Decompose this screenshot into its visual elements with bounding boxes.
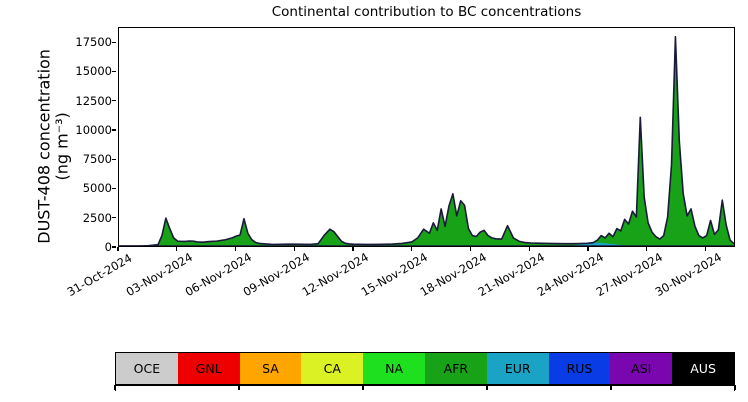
legend-item-label: EUR (505, 361, 531, 376)
y-tick-label: 17500 (52, 35, 112, 49)
legend-item-label: AFR (444, 361, 468, 376)
y-tick-mark (112, 71, 116, 72)
x-tick-label-text: 03-Nov-2024 (123, 250, 194, 299)
plot-area (118, 27, 735, 247)
x-tick-label-text: 15-Nov-2024 (358, 250, 429, 299)
y-tick-label: 0 (52, 240, 112, 254)
x-tick-mark (705, 247, 706, 251)
legend-axis-line (115, 385, 735, 386)
legend-item-asi[interactable]: ASI (610, 353, 672, 384)
page-title: Continental contribution to BC concentra… (118, 4, 735, 20)
legend-item-oce[interactable]: OCE (116, 353, 178, 384)
legend-item-label: SA (262, 361, 279, 376)
legend-item-na[interactable]: NA (363, 353, 425, 384)
legend-item-label: GNL (196, 361, 222, 376)
legend-item-eur[interactable]: EUR (487, 353, 549, 384)
legend-tick-mark (734, 385, 735, 390)
legend-item-sa[interactable]: SA (240, 353, 302, 384)
legend-item-label: ASI (631, 361, 651, 376)
legend-item-label: OCE (134, 361, 160, 376)
x-tick-mark (411, 247, 412, 251)
legend-item-rus[interactable]: RUS (549, 353, 611, 384)
y-tick-mark (112, 159, 116, 160)
x-tick-mark (352, 247, 353, 251)
x-tick-mark (117, 247, 118, 251)
x-tick-mark (235, 247, 236, 251)
x-tick-mark (294, 247, 295, 251)
y-tick-label: 15000 (52, 64, 112, 78)
legend-item-ca[interactable]: CA (301, 353, 363, 384)
legend-item-label: CA (324, 361, 341, 376)
y-axis-ticks: 025005000750010000125001500017500 (46, 0, 112, 402)
x-tick-label-text: 27-Nov-2024 (593, 250, 664, 299)
legend-tick-mark (486, 385, 487, 390)
continent-legend[interactable]: OCEGNLSACANAAFREURRUSASIAUS (115, 352, 735, 385)
legend-item-label: NA (385, 361, 403, 376)
y-tick-mark (112, 129, 116, 130)
legend-item-label: AUS (690, 361, 716, 376)
legend-tick-mark (610, 385, 611, 390)
legend-item-label: RUS (567, 361, 593, 376)
x-tick-mark (646, 247, 647, 251)
y-tick-label: 5000 (52, 181, 112, 195)
y-tick-label: 12500 (52, 94, 112, 108)
x-tick-label-text: 30-Nov-2024 (652, 250, 723, 299)
y-tick-mark (112, 100, 116, 101)
y-tick-label: 7500 (52, 152, 112, 166)
series-plot (119, 28, 734, 246)
legend-item-afr[interactable]: AFR (425, 353, 487, 384)
legend-tick-mark (238, 385, 239, 390)
legend-item-aus[interactable]: AUS (672, 353, 734, 384)
chart-figure: Continental contribution to BC concentra… (0, 0, 748, 402)
legend-tick-mark (362, 385, 363, 390)
x-tick-mark (587, 247, 588, 251)
y-tick-mark (112, 188, 116, 189)
y-tick-label: 2500 (52, 211, 112, 225)
y-tick-label: 10000 (52, 123, 112, 137)
x-tick-mark (176, 247, 177, 251)
x-tick-mark (470, 247, 471, 251)
x-tick-label-text: 12-Nov-2024 (300, 250, 371, 299)
legend-item-gnl[interactable]: GNL (178, 353, 240, 384)
y-tick-mark (112, 217, 116, 218)
y-tick-mark (112, 246, 116, 247)
y-tick-mark (112, 42, 116, 43)
legend-tick-mark (114, 385, 115, 390)
x-tick-mark (529, 247, 530, 251)
